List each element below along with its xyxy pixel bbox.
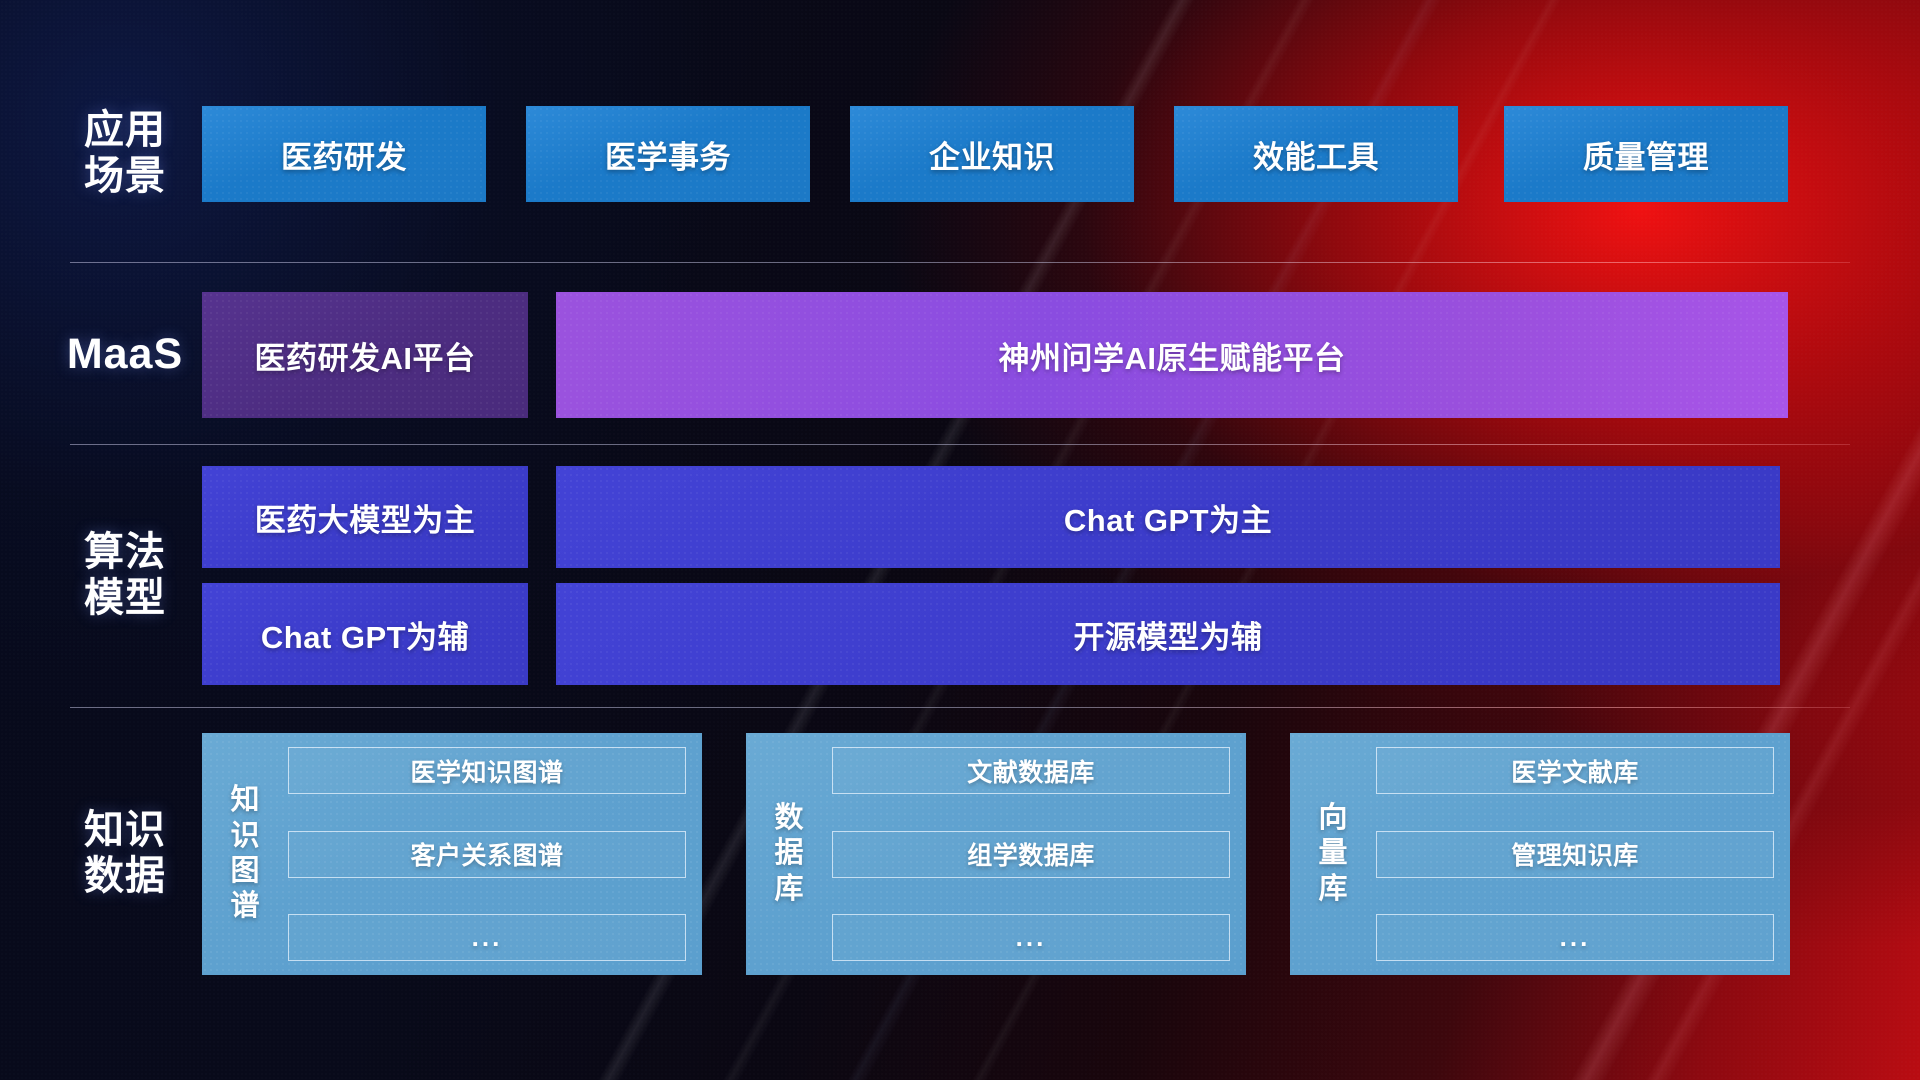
- algo-card-medicine-large-model-primary[interactable]: 医药大模型为主: [202, 466, 528, 568]
- app-card-label: 质量管理: [1583, 132, 1709, 177]
- algo-card-chatgpt-secondary[interactable]: Chat GPT为辅: [202, 583, 528, 685]
- application-scenarios-cards: 医药研发 医学事务 企业知识 效能工具 质量管理: [250, 106, 1920, 202]
- knowledge-group-label: 知识图谱: [216, 783, 274, 925]
- knowledge-item[interactable]: 管理知识库: [1376, 831, 1774, 878]
- knowledge-group-item-list: 文献数据库 组学数据库 ...: [832, 747, 1230, 961]
- app-card-medicine-rnd[interactable]: 医药研发: [202, 106, 486, 202]
- algo-card-label: Chat GPT为主: [1064, 495, 1272, 540]
- slide-canvas: 应用 场景 医药研发 医学事务 企业知识 效能工具 质量管理: [0, 0, 1920, 1080]
- row-knowledge-data: 知识 数据 知识图谱 医学知识图谱 客户关系图谱 ... 数据库 文献数据库 组…: [0, 733, 1920, 975]
- algo-card-label: 开源模型为辅: [1074, 612, 1263, 657]
- app-card-enterprise-knowledge[interactable]: 企业知识: [850, 106, 1134, 202]
- knowledge-group-item-list: 医学知识图谱 客户关系图谱 ...: [288, 747, 686, 961]
- knowledge-group-vector-store[interactable]: 向量库 医学文献库 管理知识库 ...: [1290, 733, 1790, 975]
- row-application-scenarios: 应用 场景 医药研发 医学事务 企业知识 效能工具 质量管理: [0, 106, 1920, 202]
- knowledge-group-label: 数据库: [760, 801, 818, 907]
- knowledge-item[interactable]: 医学文献库: [1376, 747, 1774, 794]
- app-card-medical-affairs[interactable]: 医学事务: [526, 106, 810, 202]
- knowledge-group-knowledge-graph[interactable]: 知识图谱 医学知识图谱 客户关系图谱 ...: [202, 733, 702, 975]
- divider-after-maas: [70, 444, 1850, 445]
- row-maas: MaaS 医药研发AI平台 神州问学AI原生赋能平台: [0, 292, 1920, 418]
- knowledge-item[interactable]: 医学知识图谱: [288, 747, 686, 794]
- maas-card-label: 神州问学AI原生赋能平台: [999, 333, 1346, 378]
- knowledge-item[interactable]: 组学数据库: [832, 831, 1230, 878]
- knowledge-item-more[interactable]: ...: [288, 914, 686, 961]
- maas-cards: 医药研发AI平台 神州问学AI原生赋能平台: [250, 292, 1920, 418]
- maas-card-medicine-rnd-ai-platform[interactable]: 医药研发AI平台: [202, 292, 528, 418]
- app-card-label: 效能工具: [1253, 132, 1379, 177]
- app-card-quality-management[interactable]: 质量管理: [1504, 106, 1788, 202]
- app-card-label: 医药研发: [281, 132, 407, 177]
- algo-card-label: 医药大模型为主: [255, 495, 476, 540]
- knowledge-group-label: 向量库: [1304, 801, 1362, 907]
- row-algorithm-models: 算法 模型 医药大模型为主 Chat GPT为辅 Chat GPT为主 开源模型…: [0, 466, 1920, 686]
- knowledge-group-item-list: 医学文献库 管理知识库 ...: [1376, 747, 1774, 961]
- app-card-label: 医学事务: [605, 132, 731, 177]
- knowledge-group-database[interactable]: 数据库 文献数据库 组学数据库 ...: [746, 733, 1246, 975]
- knowledge-item[interactable]: 客户关系图谱: [288, 831, 686, 878]
- maas-card-label: 医药研发AI平台: [255, 333, 476, 378]
- app-card-efficiency-tools[interactable]: 效能工具: [1174, 106, 1458, 202]
- algo-card-opensource-model-secondary[interactable]: 开源模型为辅: [556, 583, 1780, 685]
- divider-after-algorithm-models: [70, 707, 1850, 708]
- knowledge-item-more[interactable]: ...: [832, 914, 1230, 961]
- app-card-label: 企业知识: [929, 132, 1055, 177]
- divider-after-application-scenarios: [70, 262, 1850, 263]
- knowledge-data-groups: 知识图谱 医学知识图谱 客户关系图谱 ... 数据库 文献数据库 组学数据库 .…: [250, 733, 1920, 975]
- algo-card-label: Chat GPT为辅: [261, 612, 469, 657]
- knowledge-item-more[interactable]: ...: [1376, 914, 1774, 961]
- maas-card-shenzhou-wenxue-platform[interactable]: 神州问学AI原生赋能平台: [556, 292, 1788, 418]
- algo-card-chatgpt-primary[interactable]: Chat GPT为主: [556, 466, 1780, 568]
- algorithm-model-cards: 医药大模型为主 Chat GPT为辅 Chat GPT为主 开源模型为辅: [250, 466, 1920, 686]
- knowledge-item[interactable]: 文献数据库: [832, 747, 1230, 794]
